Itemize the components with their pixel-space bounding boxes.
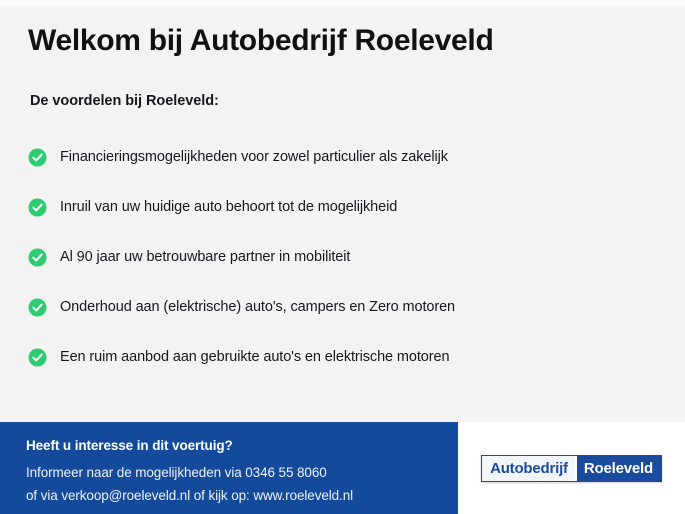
contact-info-panel: Heeft u interesse in dit voertuig? Infor… (0, 422, 458, 514)
dealer-promo-card: Welkom bij Autobedrijf Roeleveld De voor… (0, 0, 685, 514)
list-item: Financieringsmogelijkheden voor zowel pa… (28, 133, 657, 183)
check-circle-icon (28, 198, 47, 217)
check-circle-icon (28, 298, 47, 317)
contact-heading: Heeft u interesse in dit voertuig? (26, 436, 458, 461)
benefit-label: Al 90 jaar uw betrouwbare partner in mob… (60, 249, 350, 266)
contact-footer: Heeft u interesse in dit voertuig? Infor… (0, 422, 685, 514)
contact-email-website-line: of via verkoop@roeleveld.nl of kijk op: … (26, 484, 458, 507)
benefit-label: Onderhoud aan (elektrische) auto's, camp… (60, 299, 455, 316)
check-circle-icon (28, 248, 47, 267)
logo-panel: Autobedrijf Roeleveld (458, 422, 685, 514)
content-area: Welkom bij Autobedrijf Roeleveld De voor… (0, 0, 685, 422)
list-item: Al 90 jaar uw betrouwbare partner in mob… (28, 233, 657, 283)
list-item: Een ruim aanbod aan gebruikte auto's en … (28, 333, 657, 383)
benefits-heading: De voordelen bij Roeleveld: (28, 59, 657, 109)
check-circle-icon (28, 148, 47, 167)
check-circle-icon (28, 348, 47, 367)
logo-left-text: Autobedrijf (482, 456, 576, 481)
benefits-list: Financieringsmogelijkheden voor zowel pa… (28, 109, 657, 383)
benefit-label: Inruil van uw huidige auto behoort tot d… (60, 199, 397, 216)
list-item: Onderhoud aan (elektrische) auto's, camp… (28, 283, 657, 333)
benefit-label: Een ruim aanbod aan gebruikte auto's en … (60, 349, 449, 366)
autobedrijf-roeleveld-logo: Autobedrijf Roeleveld (481, 455, 662, 482)
page-title: Welkom bij Autobedrijf Roeleveld (28, 24, 657, 59)
benefit-label: Financieringsmogelijkheden voor zowel pa… (60, 149, 448, 166)
logo-right-text: Roeleveld (576, 456, 661, 481)
contact-phone-line: Informeer naar de mogelijkheden via 0346… (26, 461, 458, 484)
list-item: Inruil van uw huidige auto behoort tot d… (28, 183, 657, 233)
